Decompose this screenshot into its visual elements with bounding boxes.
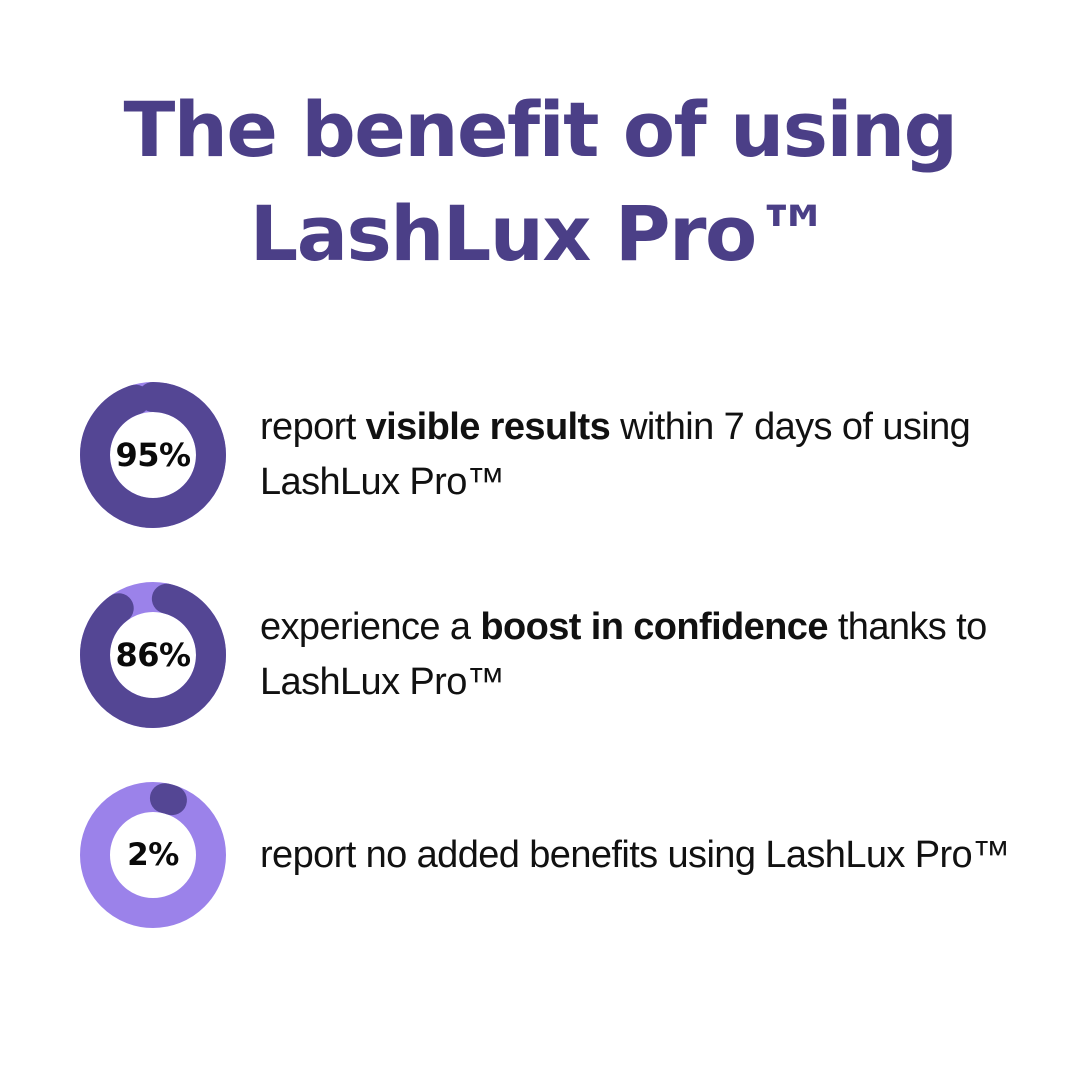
stat-row: 2% report no added benefits using LashLu… xyxy=(78,770,1028,940)
stat-description: report no added benefits using LashLux P… xyxy=(260,828,1010,883)
donut-percent-label: 86% xyxy=(78,580,228,730)
stat-text-before: report no added benefits using LashLux P… xyxy=(260,834,1010,876)
stat-description: report visible results within 7 days of … xyxy=(260,400,1028,510)
stat-text-before: experience a xyxy=(260,606,480,648)
donut-chart-2: 2% xyxy=(78,780,228,930)
donut-percent-label: 95% xyxy=(78,380,228,530)
donut-percent-label: 2% xyxy=(78,780,228,930)
stats-list: 95% report visible results within 7 days… xyxy=(78,370,1028,940)
stat-row: 86% experience a boost in confidence tha… xyxy=(78,570,1028,740)
page-title: The benefit of using LashLux Pro™ xyxy=(0,78,1080,286)
stat-row: 95% report visible results within 7 days… xyxy=(78,370,1028,540)
infographic-poster: The benefit of using LashLux Pro™ 95% re… xyxy=(0,0,1080,1080)
stat-text-bold: boost in confidence xyxy=(480,606,828,648)
donut-chart-86: 86% xyxy=(78,580,228,730)
title-line-1: The benefit of using xyxy=(0,78,1080,182)
title-line-2: LashLux Pro™ xyxy=(0,182,1080,286)
stat-description: experience a boost in confidence thanks … xyxy=(260,600,1028,710)
stat-text-bold: visible results xyxy=(366,406,610,448)
stat-text-before: report xyxy=(260,406,366,448)
donut-chart-95: 95% xyxy=(78,380,228,530)
